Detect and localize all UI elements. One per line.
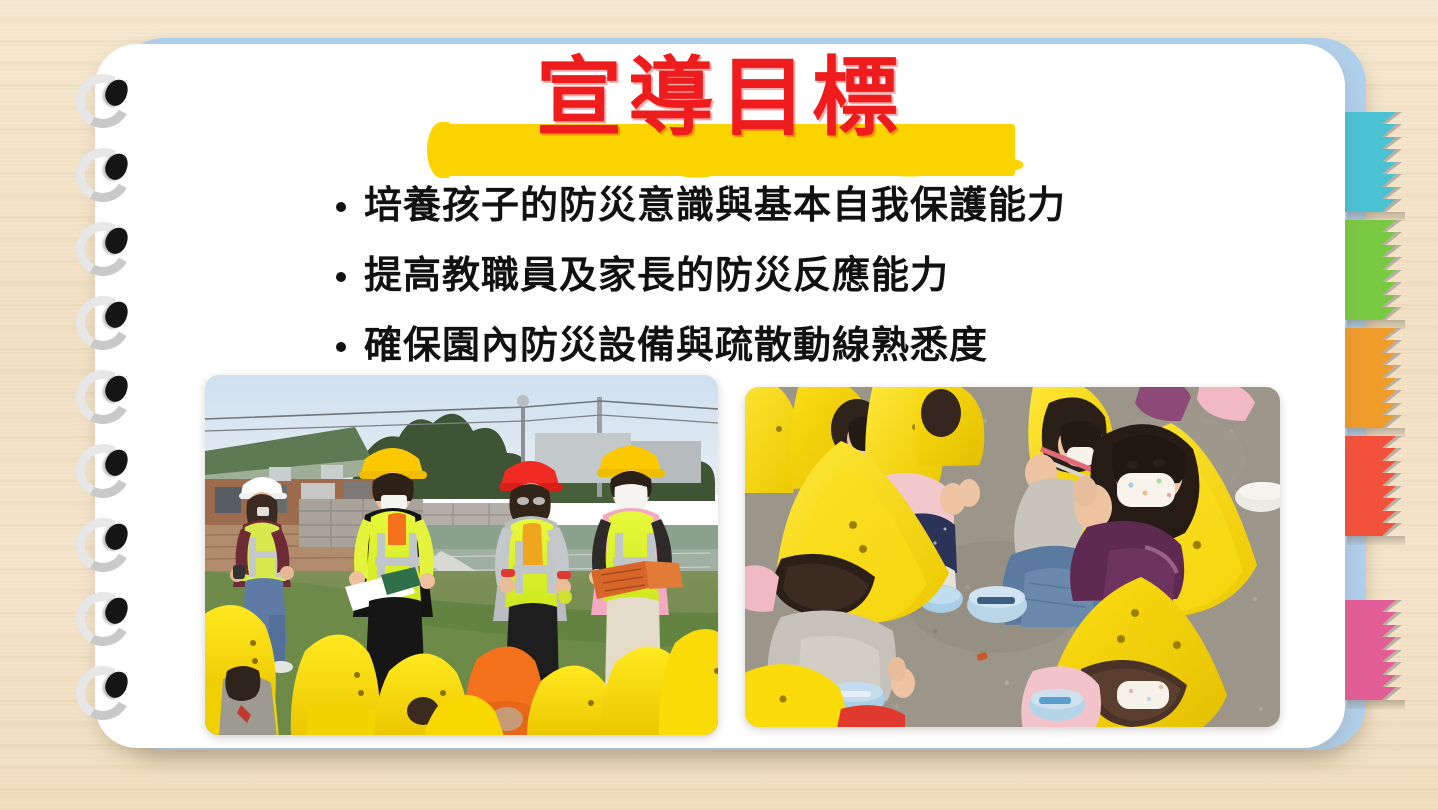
spiral-ring-highlight xyxy=(70,364,137,431)
goal-item: 提高教職員及家長的防災反應能力 xyxy=(336,252,1296,300)
spiral-ring xyxy=(76,518,138,572)
spiral-ring-highlight xyxy=(70,290,137,357)
tab-pink-shadow xyxy=(1347,700,1405,709)
photo-outdoor-drill xyxy=(205,375,718,735)
slide-background: 宣導目標 培養孩子的防災意識與基本自我保護能力 提高教職員及家長的防災反應能力 … xyxy=(0,0,1438,810)
page-title: 宣導目標 xyxy=(95,52,1345,145)
goal-item: 確保園內防災設備與疏散動線熟悉度 xyxy=(336,322,1296,370)
tab-red-body xyxy=(1345,436,1383,536)
photo-children-hoods xyxy=(745,387,1280,727)
tab-teal-body xyxy=(1345,112,1383,212)
spiral-ring xyxy=(76,296,138,350)
tab-pink-torn-edge xyxy=(1382,600,1404,700)
spiral-ring xyxy=(76,592,138,646)
tab-orange[interactable] xyxy=(1345,328,1403,428)
spiral-ring xyxy=(76,666,138,720)
tab-green-body xyxy=(1345,220,1383,320)
bullet-dot-icon xyxy=(336,202,346,212)
goal-text: 提高教職員及家長的防災反應能力 xyxy=(364,252,949,300)
tab-teal-torn-edge xyxy=(1382,112,1404,212)
tab-pink-body xyxy=(1345,600,1383,700)
spiral-ring-highlight xyxy=(70,216,137,283)
tab-green[interactable] xyxy=(1345,220,1403,320)
tab-pink[interactable] xyxy=(1345,600,1403,700)
spiral-ring xyxy=(76,222,138,276)
spiral-ring-highlight xyxy=(70,438,137,505)
goal-text: 培養孩子的防災意識與基本自我保護能力 xyxy=(364,182,1066,230)
tab-red-shadow xyxy=(1347,536,1405,545)
spiral-ring-highlight xyxy=(70,586,137,653)
tab-red[interactable] xyxy=(1345,436,1403,536)
photo-outdoor-drill-image xyxy=(205,375,718,735)
title-block: 宣導目標 xyxy=(95,44,1345,194)
bullet-dot-icon xyxy=(336,342,346,352)
spiral-ring xyxy=(76,370,138,424)
spiral-ring-highlight xyxy=(70,512,137,579)
photo-children-hoods-image xyxy=(745,387,1280,727)
bullet-dot-icon xyxy=(336,272,346,282)
tab-green-torn-edge xyxy=(1382,220,1404,320)
goal-text: 確保園內防災設備與疏散動線熟悉度 xyxy=(364,322,988,370)
goal-item: 培養孩子的防災意識與基本自我保護能力 xyxy=(336,182,1296,230)
goal-list: 培養孩子的防災意識與基本自我保護能力 提高教職員及家長的防災反應能力 確保園內防… xyxy=(336,182,1296,392)
spiral-ring-highlight xyxy=(70,660,137,727)
tab-orange-body xyxy=(1345,328,1383,428)
tab-orange-torn-edge xyxy=(1382,328,1404,428)
spiral-ring xyxy=(76,444,138,498)
tab-red-torn-edge xyxy=(1382,436,1404,536)
tab-teal[interactable] xyxy=(1345,112,1403,212)
